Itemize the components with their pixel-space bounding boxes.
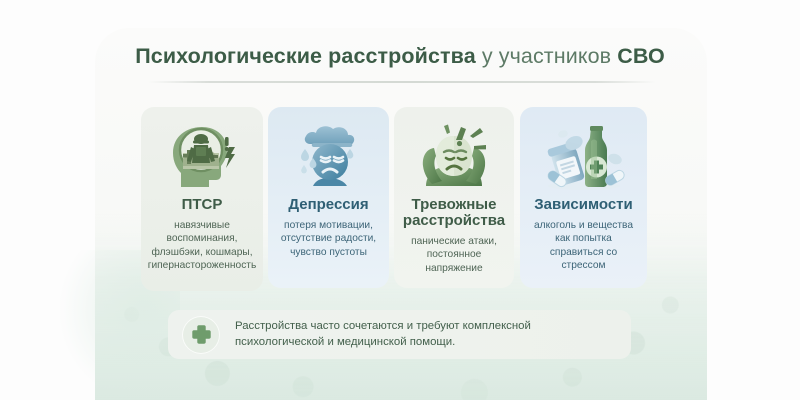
page-title-bold-1: Психологические расстройства xyxy=(135,44,476,68)
card-anxiety[interactable]: Тревожные расстройства панические атаки,… xyxy=(394,107,514,288)
medical-cross-icon xyxy=(182,316,220,354)
card-depression[interactable]: Депрессия потеря мотивации, отсутствие р… xyxy=(268,107,389,288)
title-divider xyxy=(148,81,656,83)
footer-note-text: Расстройства часто сочетаются и требуют … xyxy=(235,319,531,350)
card-title-ptsd: ПТСР xyxy=(182,197,223,213)
card-ptsd[interactable]: ПТСР навязчивые воспоминания, флэшбэки, … xyxy=(141,107,263,291)
stressed-person-head-icon xyxy=(412,121,496,193)
card-desc-anxiety: панические атаки, постоянное напряжение xyxy=(401,235,507,275)
footer-note-line-1: Расстройства часто сочетаются и требуют … xyxy=(235,319,531,335)
bottle-pills-icon xyxy=(539,121,629,193)
footer-note-line-2: психологической и медицинской помощи. xyxy=(235,335,531,351)
card-desc-addiction: алкоголь и вещества как попытка справить… xyxy=(527,219,640,273)
card-desc-depression: потеря мотивации, отсутствие радости, чу… xyxy=(275,219,382,259)
disorder-card-list: ПТСР навязчивые воспоминания, флэшбэки, … xyxy=(141,107,647,293)
page-title-bold-2: СВО xyxy=(617,44,665,68)
card-addiction[interactable]: Зависимости алкоголь и вещества как попы… xyxy=(520,107,647,288)
card-title-depression: Депрессия xyxy=(288,197,368,213)
page-title-regular: у участников xyxy=(476,44,618,68)
footer-note-banner: Расстройства часто сочетаются и требуют … xyxy=(168,310,631,359)
head-soldier-thought-icon xyxy=(161,121,243,193)
infographic-root: Психологические расстройства у участнико… xyxy=(0,0,800,400)
sad-face-rain-cloud-icon xyxy=(288,121,370,193)
card-title-addiction: Зависимости xyxy=(534,197,633,213)
page-title: Психологические расстройства у участнико… xyxy=(0,44,800,69)
card-title-anxiety: Тревожные расстройства xyxy=(401,197,507,229)
card-desc-ptsd: навязчивые воспоминания, флэшбэки, кошма… xyxy=(148,219,257,273)
